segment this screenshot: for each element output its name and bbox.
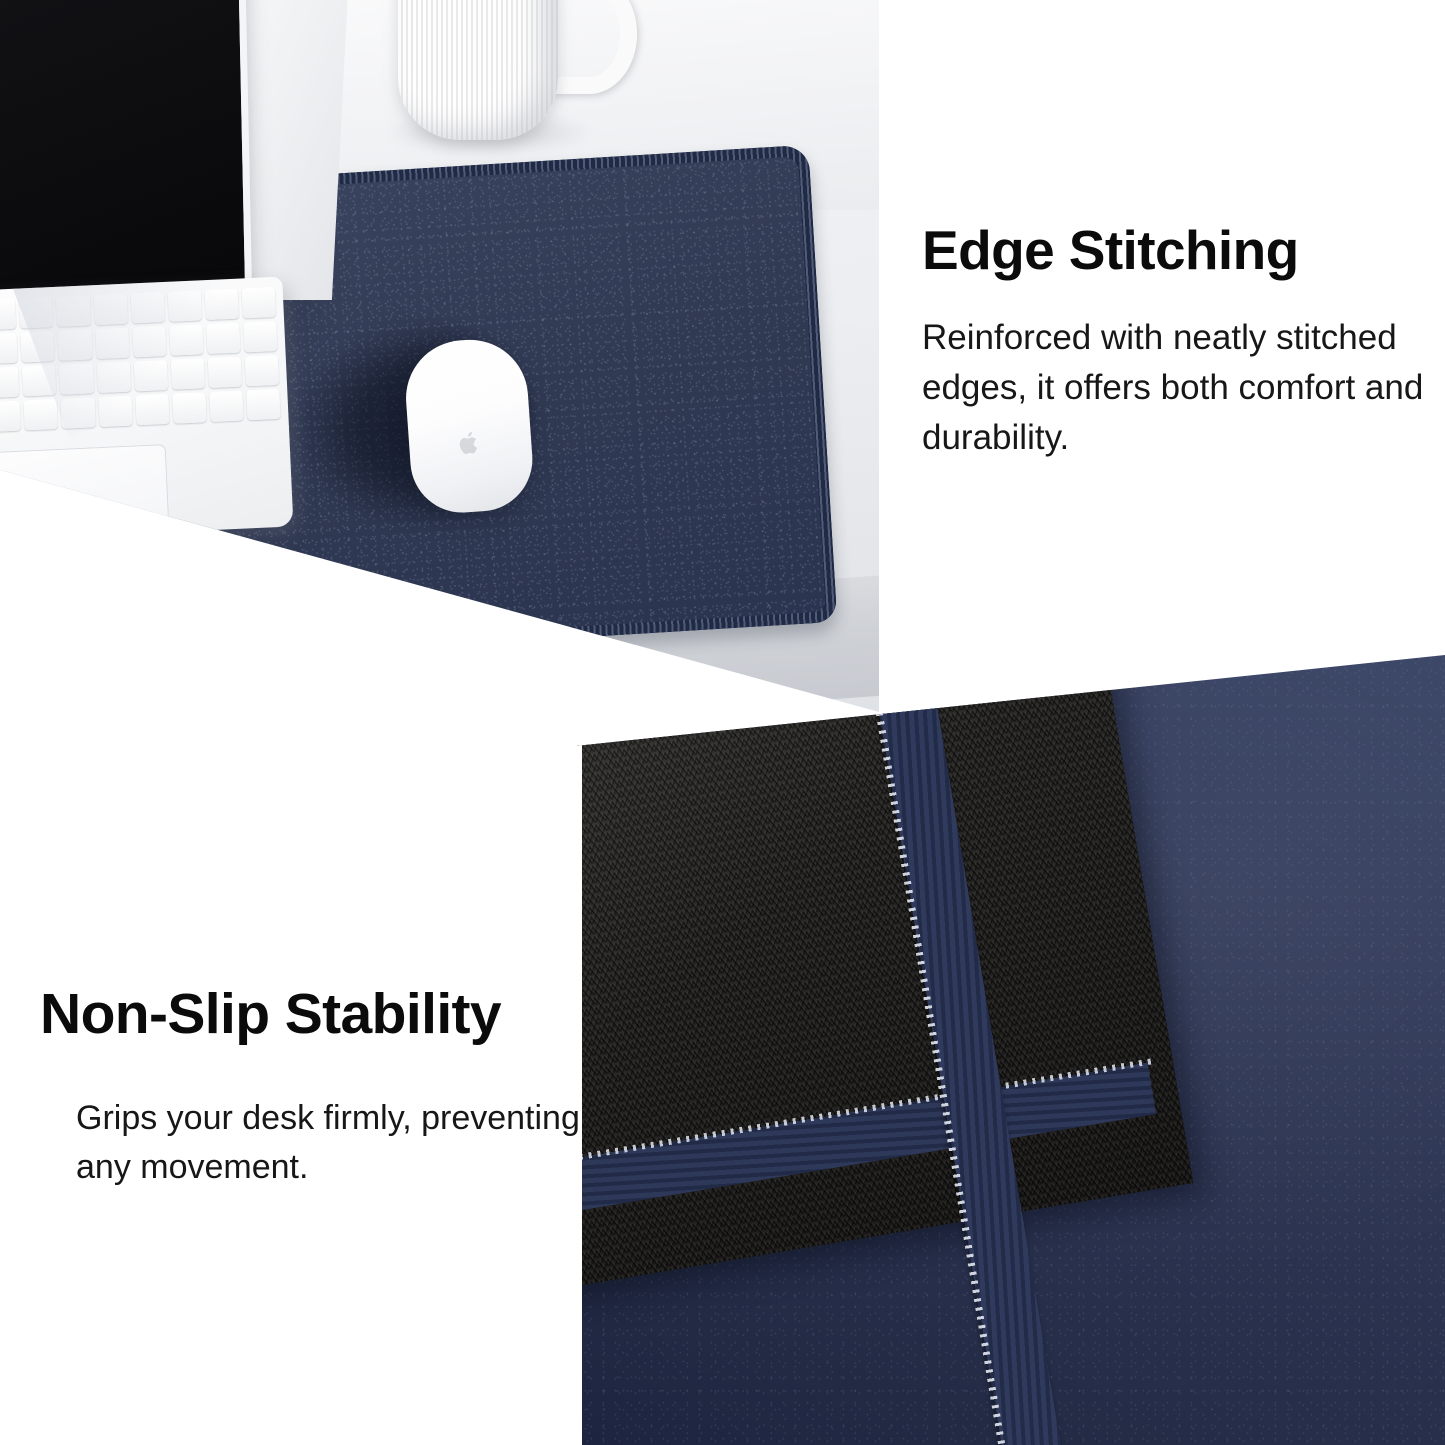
tablet-bezel [0, 0, 252, 311]
keyboard-key [24, 399, 58, 430]
tablet-device [0, 0, 245, 303]
keyboard-key [242, 287, 276, 318]
photo-panel-mat-corner-closeup [577, 655, 1445, 1445]
keyboard-key [0, 401, 21, 432]
mug-body [398, 0, 558, 140]
photo-panel-desk-scene [0, 0, 879, 712]
keyboard-key [0, 299, 17, 330]
feature-title-edge-stitching: Edge Stitching [922, 222, 1427, 279]
feature-description-edge-stitching: Reinforced with neatly stitched edges, i… [922, 313, 1427, 462]
infographic-canvas: Edge Stitching Reinforced with neatly st… [0, 0, 1445, 1445]
keyboard-key [246, 389, 280, 420]
feature-description-non-slip-stability: Grips your desk firmly, preventing any m… [76, 1094, 580, 1191]
tablet-screen-glare [0, 0, 154, 32]
coffee-mug [398, 0, 580, 152]
magic-keyboard [0, 277, 293, 546]
keyboard-trackpad [0, 444, 171, 545]
feature-block-edge-stitching: Edge Stitching Reinforced with neatly st… [922, 222, 1427, 462]
keyboard-key [0, 333, 18, 364]
keyboard-key [209, 391, 243, 422]
apple-logo-icon [458, 429, 482, 456]
magic-mouse [402, 336, 536, 516]
feature-block-non-slip-stability: Non-Slip Stability Grips your desk firml… [40, 985, 580, 1191]
keyboard-key [0, 367, 20, 398]
feature-title-non-slip-stability: Non-Slip Stability [40, 985, 580, 1044]
